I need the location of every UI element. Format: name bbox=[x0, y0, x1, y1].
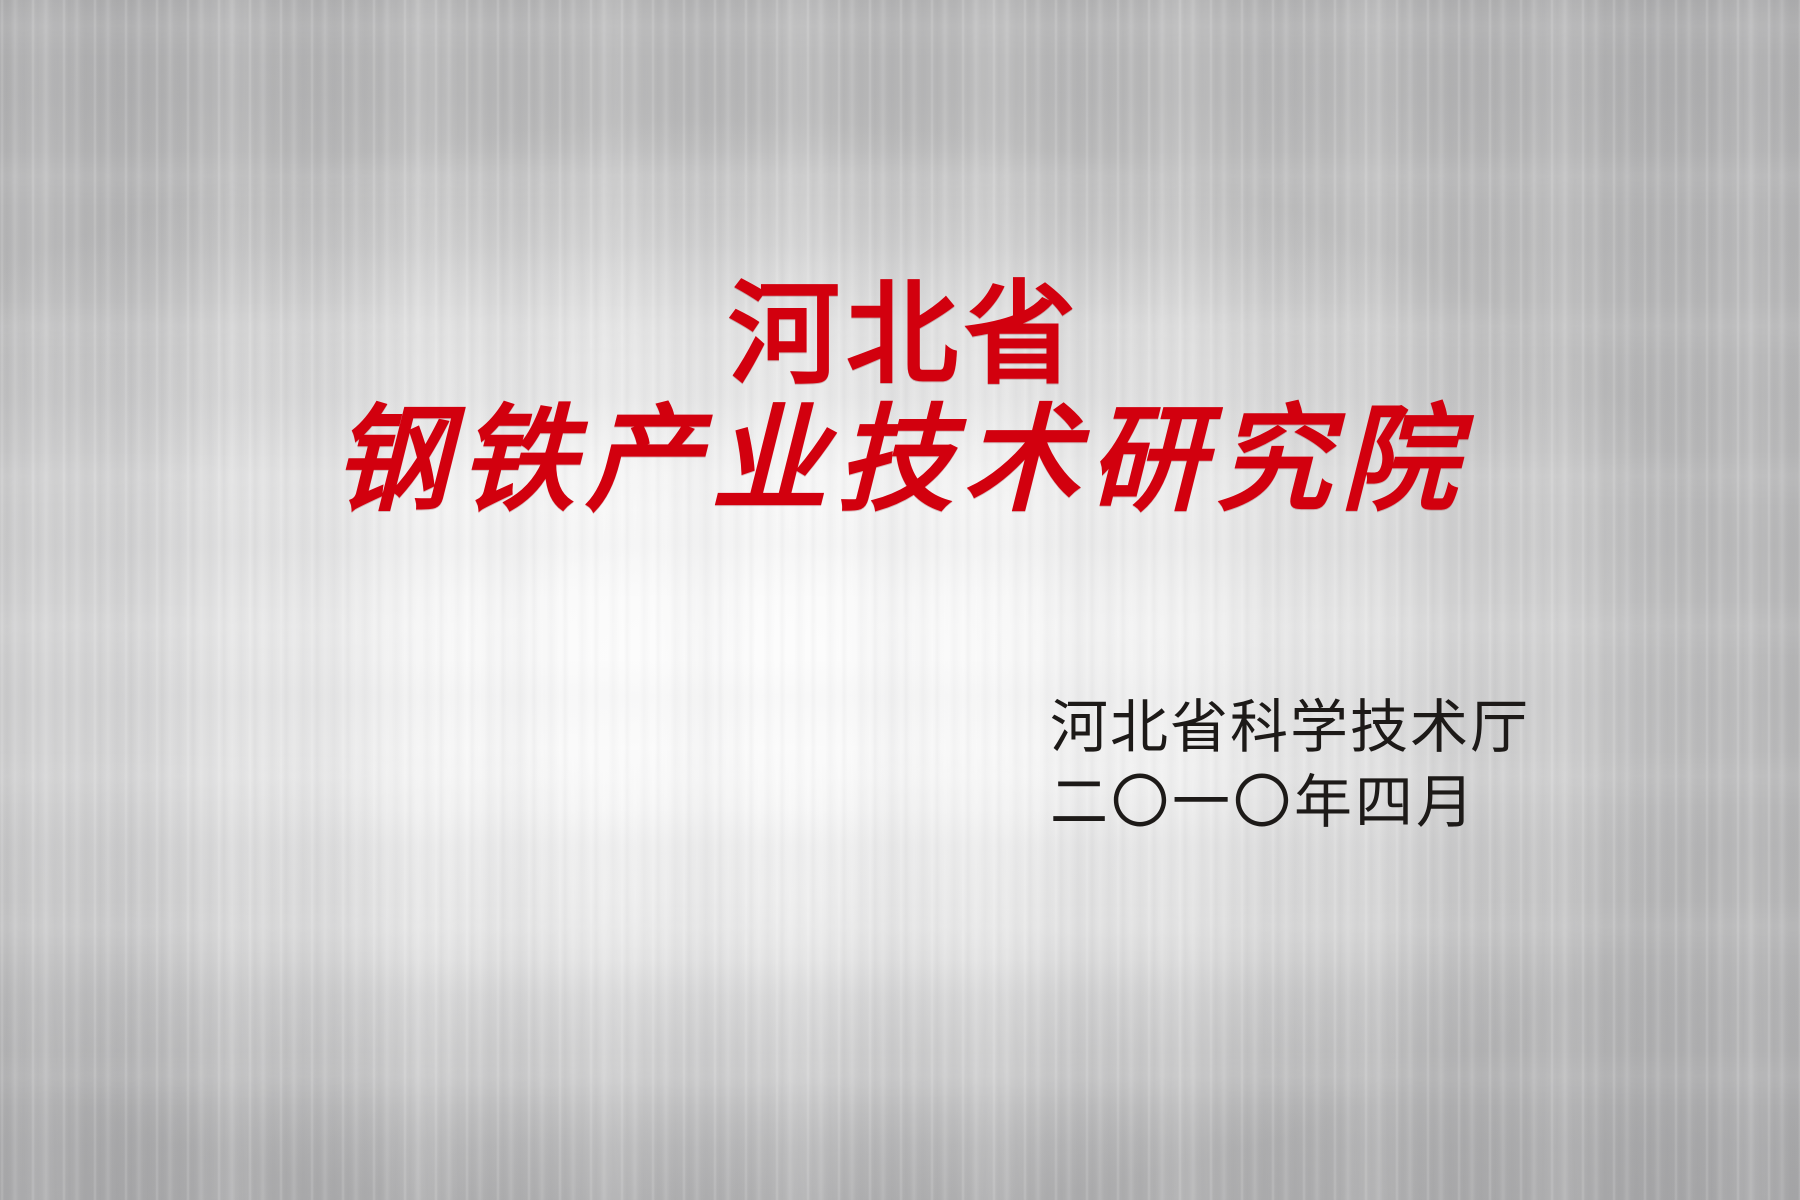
byline-organization: 河北省科学技术厅 bbox=[1050, 690, 1470, 765]
title-slide: 河北省 钢铁产业技术研究院 河北省科学技术厅 二〇一〇年四月 bbox=[0, 0, 1800, 1200]
byline-date: 二〇一〇年四月 bbox=[1050, 765, 1470, 840]
slide-title: 河北省 钢铁产业技术研究院 bbox=[0, 270, 1800, 529]
slide-byline: 河北省科学技术厅 二〇一〇年四月 bbox=[1050, 690, 1470, 841]
slide-content: 河北省 钢铁产业技术研究院 河北省科学技术厅 二〇一〇年四月 bbox=[0, 0, 1800, 1200]
title-line-province: 河北省 bbox=[10, 270, 1800, 400]
title-line-institute: 钢铁产业技术研究院 bbox=[0, 392, 1800, 529]
